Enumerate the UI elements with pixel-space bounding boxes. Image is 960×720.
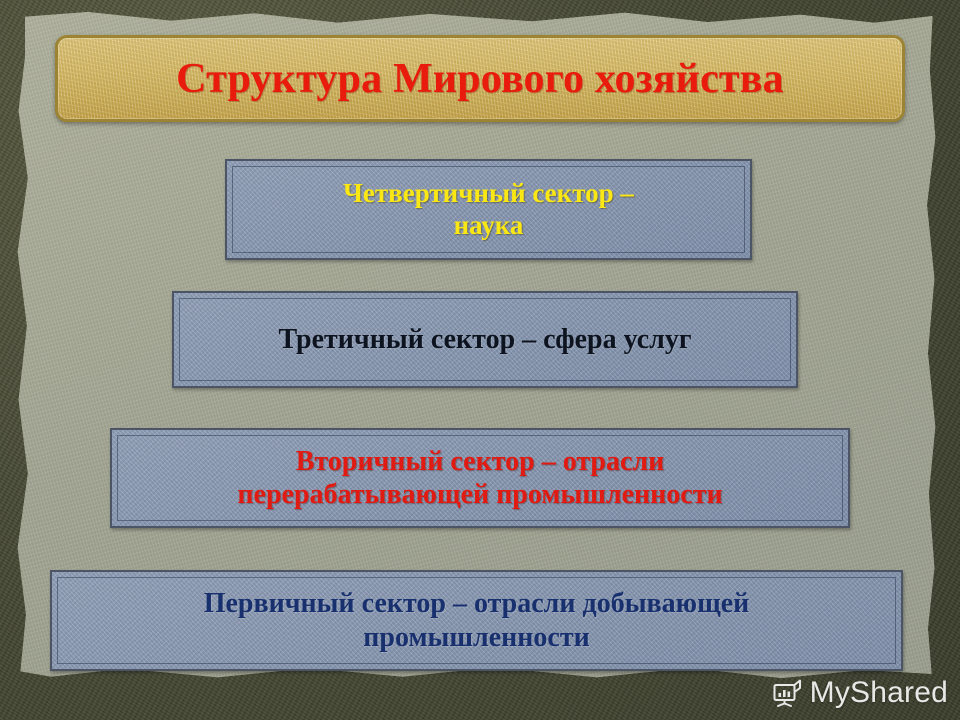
sector-line-2: перерабатывающей промышленности <box>237 479 722 510</box>
sector-box-secondary: Вторичный сектор – отрасли перерабатываю… <box>110 428 850 528</box>
sector-label-secondary: Вторичный сектор – отрасли перерабатываю… <box>223 445 736 511</box>
presentation-slide: Структура Мирового хозяйства Четвертичны… <box>0 0 960 720</box>
watermark-label: MyShared <box>810 676 948 710</box>
sector-line-1: Четвертичный сектор – <box>343 178 634 208</box>
sector-box-primary: Первичный сектор – отрасли добывающей пр… <box>50 570 903 671</box>
sector-box-tertiary: Третичный сектор – сфера услуг <box>172 291 798 388</box>
slide-title-plaque: Структура Мирового хозяйства <box>55 35 905 122</box>
sector-line-1: Первичный сектор – отрасли добывающей <box>204 588 750 619</box>
sector-line-2: наука <box>454 210 524 240</box>
sector-line-2: промышленности <box>363 622 589 653</box>
presentation-chart-icon <box>769 676 803 710</box>
sector-label-tertiary: Третичный сектор – сфера услуг <box>264 323 705 356</box>
sector-label-quaternary: Четвертичный сектор – наука <box>329 178 648 242</box>
watermark: MyShared <box>769 676 948 710</box>
sector-label-primary: Первичный сектор – отрасли добывающей пр… <box>190 587 764 653</box>
sector-line-1: Вторичный сектор – отрасли <box>296 446 665 477</box>
sector-box-quaternary: Четвертичный сектор – наука <box>225 159 752 260</box>
page-title: Структура Мирового хозяйства <box>176 55 784 103</box>
